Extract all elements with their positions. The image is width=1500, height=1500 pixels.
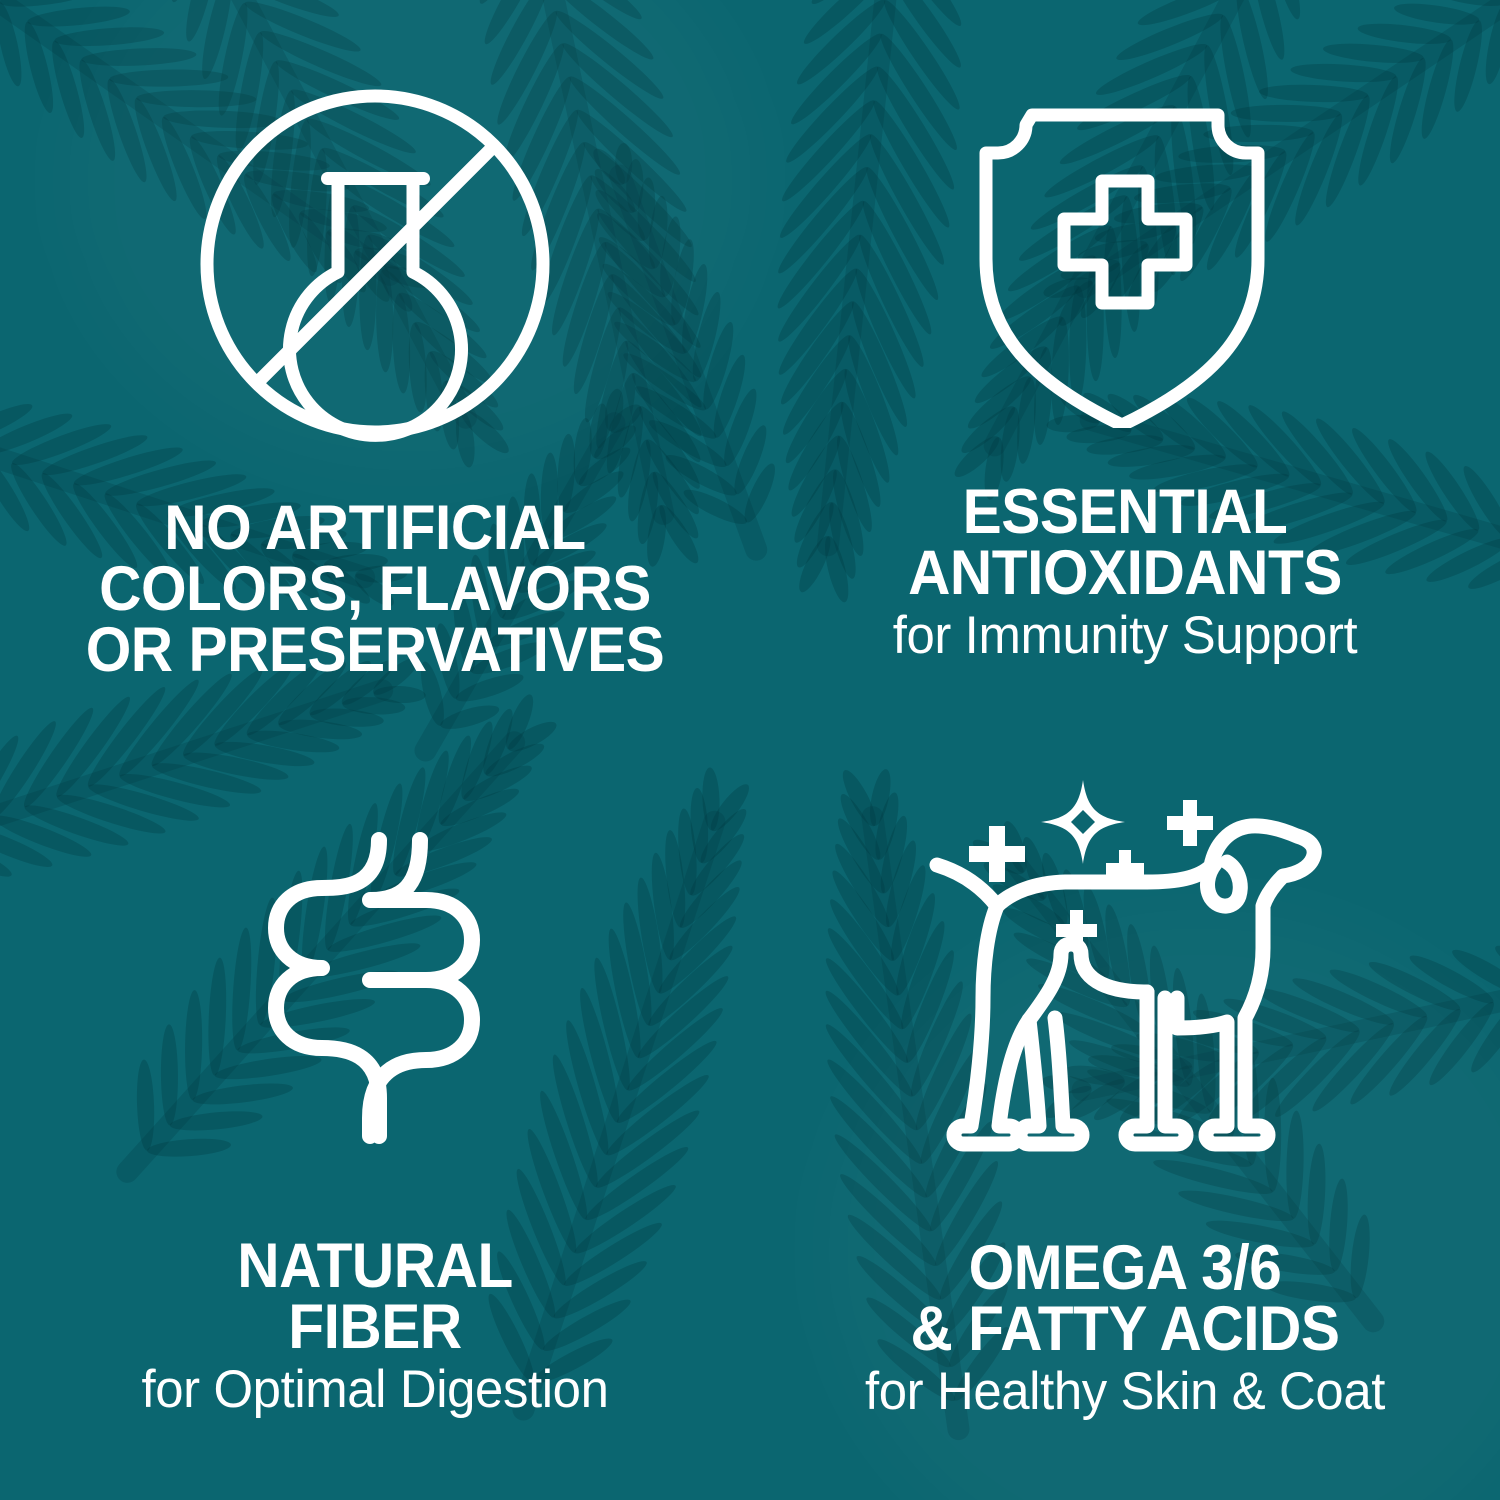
feature-caption-no-artificial: NO ARTIFICIAL COLORS, FLAVORS OR PRESERV…	[0, 498, 750, 681]
dog-sparkle-icon	[915, 770, 1335, 1200]
feature-card-natural-fiber: NATURAL FIBER for Optimal Digestion	[0, 750, 750, 1500]
intestine-icon	[250, 828, 500, 1148]
feature-caption-omega: OMEGA 3/6 & FATTY ACIDS for Healthy Skin…	[750, 1238, 1500, 1420]
feature-headline: NATURAL FIBER	[26, 1236, 724, 1358]
no-flask-icon	[195, 78, 555, 458]
headline-line: OMEGA 3/6	[776, 1238, 1474, 1299]
feature-headline: NO ARTIFICIAL COLORS, FLAVORS OR PRESERV…	[26, 498, 724, 681]
feature-card-antioxidants: ESSENTIAL ANTIOXIDANTS for Immunity Supp…	[750, 0, 1500, 750]
feature-subline: for Immunity Support	[765, 608, 1485, 664]
shield-cross-icon	[975, 88, 1275, 428]
headline-line: NO ARTIFICIAL	[26, 498, 724, 559]
feature-card-no-artificial: NO ARTIFICIAL COLORS, FLAVORS OR PRESERV…	[0, 0, 750, 750]
feature-subline: for Healthy Skin & Coat	[765, 1364, 1485, 1420]
feature-subline: for Optimal Digestion	[15, 1362, 735, 1418]
benefits-panel: NO ARTIFICIAL COLORS, FLAVORS OR PRESERV…	[0, 0, 1500, 1500]
headline-line: OR PRESERVATIVES	[26, 620, 724, 681]
sparkle-group	[969, 780, 1213, 951]
feature-card-omega: OMEGA 3/6 & FATTY ACIDS for Healthy Skin…	[750, 750, 1500, 1500]
headline-line: ESSENTIAL	[776, 482, 1474, 543]
headline-line: FIBER	[26, 1297, 724, 1358]
feature-caption-natural-fiber: NATURAL FIBER for Optimal Digestion	[0, 1236, 750, 1418]
feature-caption-antioxidants: ESSENTIAL ANTIOXIDANTS for Immunity Supp…	[750, 482, 1500, 664]
headline-line: & FATTY ACIDS	[776, 1299, 1474, 1360]
feature-headline: ESSENTIAL ANTIOXIDANTS	[776, 482, 1474, 604]
headline-line: NATURAL	[26, 1236, 724, 1297]
feature-grid: NO ARTIFICIAL COLORS, FLAVORS OR PRESERV…	[0, 0, 1500, 1500]
feature-headline: OMEGA 3/6 & FATTY ACIDS	[776, 1238, 1474, 1360]
headline-line: ANTIOXIDANTS	[776, 543, 1474, 604]
headline-line: COLORS, FLAVORS	[26, 559, 724, 620]
